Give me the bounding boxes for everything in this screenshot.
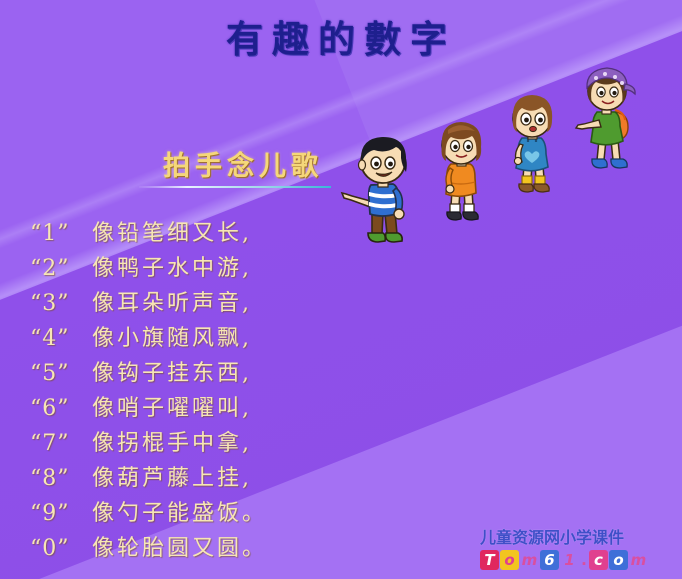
list-item: “0”像轮胎圆又圆。 xyxy=(30,531,360,566)
rhyme-number: “7” xyxy=(30,426,92,461)
rhyme-text: 像小旗随风飘, xyxy=(92,326,252,351)
page-title: 有趣的數字 xyxy=(0,9,682,63)
rhyme-text: 像轮胎圆又圆。 xyxy=(92,536,267,561)
slide-canvas: 有趣的數字 拍手念儿歌 “1”像铅笔细又长, “2”像鸭子水中游, “3”像耳朵… xyxy=(0,0,682,579)
logo-tile: o xyxy=(500,550,519,570)
rhyme-number: “3” xyxy=(30,286,92,321)
list-item: “5”像钩子挂东西, xyxy=(30,356,360,391)
list-item: “2”像鸭子水中游, xyxy=(30,251,360,286)
logo-dot: . xyxy=(580,550,588,570)
kid-boy-pointing-illustration xyxy=(338,130,424,245)
watermark-text: 儿童资源网小学课件 xyxy=(480,524,648,548)
rhyme-number: “8” xyxy=(30,461,92,496)
subtitle-divider xyxy=(139,186,331,188)
logo-tile: 6 xyxy=(540,550,559,570)
rhyme-text: 像铅笔细又长, xyxy=(92,221,252,246)
logo-tile: T xyxy=(480,550,499,570)
list-item: “4”像小旗随风飘, xyxy=(30,321,360,356)
kid-girl-green-dress-illustration xyxy=(572,64,644,179)
rhyme-text: 像耳朵听声音, xyxy=(92,291,252,316)
rhyme-text: 像勺子能盛饭。 xyxy=(92,501,267,526)
logo-tile: m xyxy=(629,550,648,570)
rhyme-number: “6” xyxy=(30,391,92,426)
watermark: 儿童资源网小学课件 T o m 6 1 . c o m xyxy=(480,524,648,570)
logo-tile: o xyxy=(609,550,628,570)
list-item: “9”像勺子能盛饭。 xyxy=(30,496,360,531)
logo-tile: 1 xyxy=(560,550,579,570)
rhyme-text: 像鸭子水中游, xyxy=(92,256,252,281)
list-item: “1”像铅笔细又长, xyxy=(30,216,360,251)
rhyme-list: “1”像铅笔细又长, “2”像鸭子水中游, “3”像耳朵听声音, “4”像小旗随… xyxy=(30,216,360,566)
logo-tile: c xyxy=(589,550,608,570)
list-item: “6”像哨子嚁嚁叫, xyxy=(30,391,360,426)
kid-girl-blue-overalls-illustration xyxy=(498,92,566,200)
list-item: “3”像耳朵听声音, xyxy=(30,286,360,321)
subtitle: 拍手念儿歌 xyxy=(163,144,323,183)
logo-tile: m xyxy=(520,550,539,570)
rhyme-number: “1” xyxy=(30,216,92,251)
list-item: “8”像葫芦藤上挂, xyxy=(30,461,360,496)
rhyme-text: 像钩子挂东西, xyxy=(92,361,252,386)
list-item: “7”像拐棍手中拿, xyxy=(30,426,360,461)
rhyme-text: 像拐棍手中拿, xyxy=(92,431,252,456)
watermark-logo: T o m 6 1 . c o m xyxy=(480,550,648,570)
rhyme-number: “4” xyxy=(30,321,92,356)
kid-girl-orange-dress-illustration xyxy=(426,118,496,226)
rhyme-number: “9” xyxy=(30,496,92,531)
rhyme-text: 像哨子嚁嚁叫, xyxy=(92,396,252,421)
rhyme-text: 像葫芦藤上挂, xyxy=(92,466,252,491)
rhyme-number: “5” xyxy=(30,356,92,391)
rhyme-number: “0” xyxy=(30,531,92,566)
rhyme-number: “2” xyxy=(30,251,92,286)
